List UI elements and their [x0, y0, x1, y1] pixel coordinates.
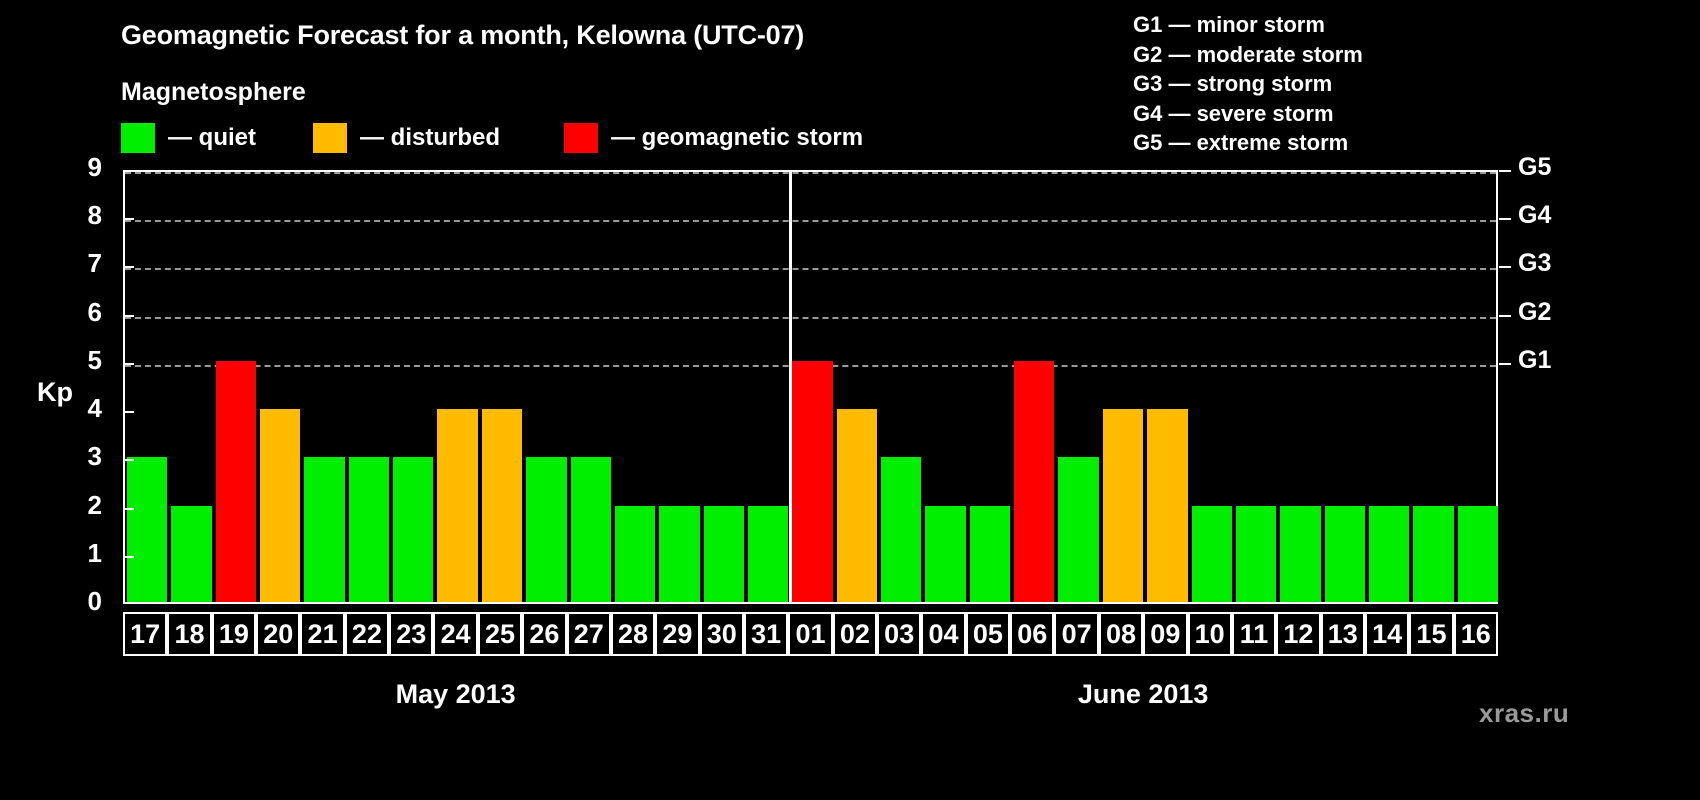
date-label-12[interactable]: 12	[1276, 612, 1320, 656]
y-tick-label-5: 5	[58, 345, 102, 376]
y-tick-mark-7	[123, 266, 134, 268]
legend-item-disturbed: — disturbed	[313, 122, 500, 154]
y-tick-mark-6	[123, 315, 134, 317]
date-label-11[interactable]: 11	[1232, 612, 1276, 656]
legend-item-quiet: — quiet	[121, 122, 256, 154]
bar-21	[304, 457, 344, 602]
y-tick-mark-4	[123, 411, 134, 413]
bar-26	[526, 457, 566, 602]
bar-08	[1103, 409, 1143, 602]
y-tick-mark-1	[123, 556, 134, 558]
bar-17	[127, 457, 167, 602]
bar-14	[1369, 506, 1409, 602]
date-label-13[interactable]: 13	[1321, 612, 1365, 656]
date-label-21[interactable]: 21	[300, 612, 344, 656]
bar-12	[1280, 506, 1320, 602]
date-label-23[interactable]: 23	[389, 612, 433, 656]
y-tick-label-3: 3	[58, 441, 102, 472]
date-label-29[interactable]: 29	[655, 612, 699, 656]
date-label-17[interactable]: 17	[123, 612, 167, 656]
month-label-june: June 2013	[788, 679, 1498, 710]
bar-25	[482, 409, 522, 602]
bar-20	[260, 409, 300, 602]
g-tick-mark-G5	[1499, 170, 1511, 172]
gscale-legend: G1 — minor stormG2 — moderate stormG3 — …	[1133, 10, 1363, 158]
y-tick-label-6: 6	[58, 297, 102, 328]
geomagnetic-forecast-chart: Geomagnetic Forecast for a month, Kelown…	[0, 0, 1700, 800]
bar-28	[615, 506, 655, 602]
bar-16	[1458, 506, 1498, 602]
g-tick-mark-G2	[1499, 315, 1511, 317]
date-label-14[interactable]: 14	[1365, 612, 1409, 656]
date-label-03[interactable]: 03	[877, 612, 921, 656]
legend-swatch-quiet-icon	[121, 123, 155, 153]
date-label-09[interactable]: 09	[1143, 612, 1187, 656]
y-tick-label-9: 9	[58, 152, 102, 183]
bar-05	[970, 506, 1010, 602]
g-tick-label-G1: G1	[1518, 346, 1551, 375]
bar-27	[571, 457, 611, 602]
bar-15	[1413, 506, 1453, 602]
bar-31	[748, 506, 788, 602]
g-tick-mark-G1	[1499, 363, 1511, 365]
g-tick-mark-G4	[1499, 218, 1511, 220]
y-tick-mark-8	[123, 218, 134, 220]
legend-label-quiet: — quiet	[168, 124, 256, 152]
g-tick-label-G5: G5	[1518, 153, 1551, 182]
y-tick-label-2: 2	[58, 490, 102, 521]
bar-13	[1325, 506, 1365, 602]
plot-area	[123, 170, 1498, 604]
date-label-10[interactable]: 10	[1188, 612, 1232, 656]
g-tick-label-G3: G3	[1518, 249, 1551, 278]
y-tick-mark-5	[123, 363, 134, 365]
legend-swatch-storm-icon	[564, 123, 598, 153]
y-tick-label-0: 0	[58, 586, 102, 617]
bar-11	[1236, 506, 1276, 602]
bar-series	[125, 172, 1496, 602]
g-tick-label-G4: G4	[1518, 201, 1551, 230]
y-tick-label-8: 8	[58, 200, 102, 231]
y-tick-mark-2	[123, 508, 134, 510]
bar-30	[704, 506, 744, 602]
gscale-legend-line-4: G4 — severe storm	[1133, 99, 1363, 129]
y-tick-label-7: 7	[58, 248, 102, 279]
date-label-30[interactable]: 30	[700, 612, 744, 656]
gscale-legend-line-5: G5 — extreme storm	[1133, 128, 1363, 158]
date-label-19[interactable]: 19	[212, 612, 256, 656]
date-label-06[interactable]: 06	[1010, 612, 1054, 656]
bar-18	[171, 506, 211, 602]
bar-06	[1014, 361, 1054, 602]
y-tick-label-1: 1	[58, 538, 102, 569]
bar-07	[1058, 457, 1098, 602]
legend-item-storm: — geomagnetic storm	[564, 122, 863, 154]
date-label-02[interactable]: 02	[833, 612, 877, 656]
date-label-22[interactable]: 22	[345, 612, 389, 656]
page-title: Geomagnetic Forecast for a month, Kelown…	[121, 20, 804, 51]
bar-23	[393, 457, 433, 602]
date-label-15[interactable]: 15	[1409, 612, 1453, 656]
y-tick-mark-3	[123, 459, 134, 461]
bar-10	[1192, 506, 1232, 602]
date-label-31[interactable]: 31	[744, 612, 788, 656]
bar-19	[216, 361, 256, 602]
bar-24	[437, 409, 477, 602]
date-label-27[interactable]: 27	[567, 612, 611, 656]
legend-swatch-disturbed-icon	[313, 123, 347, 153]
date-label-07[interactable]: 07	[1054, 612, 1098, 656]
date-label-24[interactable]: 24	[433, 612, 477, 656]
y-tick-mark-9	[123, 170, 134, 172]
date-label-20[interactable]: 20	[256, 612, 300, 656]
date-label-05[interactable]: 05	[966, 612, 1010, 656]
magnetosphere-legend-heading: Magnetosphere	[121, 78, 306, 107]
bar-01	[792, 361, 832, 602]
watermark: xras.ru	[1479, 698, 1569, 729]
y-axis-label: Kp	[37, 377, 73, 408]
date-label-26[interactable]: 26	[522, 612, 566, 656]
legend-label-storm: — geomagnetic storm	[611, 124, 863, 152]
gscale-legend-line-2: G2 — moderate storm	[1133, 40, 1363, 70]
legend-label-disturbed: — disturbed	[360, 124, 500, 152]
bar-29	[659, 506, 699, 602]
month-label-may: May 2013	[123, 679, 788, 710]
bar-04	[925, 506, 965, 602]
date-label-28[interactable]: 28	[611, 612, 655, 656]
bar-09	[1147, 409, 1187, 602]
bar-03	[881, 457, 921, 602]
bar-22	[349, 457, 389, 602]
gscale-legend-line-3: G3 — strong storm	[1133, 69, 1363, 99]
date-label-08[interactable]: 08	[1099, 612, 1143, 656]
date-label-01[interactable]: 01	[788, 612, 832, 656]
date-label-16[interactable]: 16	[1454, 612, 1498, 656]
g-tick-mark-G3	[1499, 266, 1511, 268]
date-label-25[interactable]: 25	[478, 612, 522, 656]
date-label-18[interactable]: 18	[167, 612, 211, 656]
g-tick-label-G2: G2	[1518, 298, 1551, 327]
date-label-04[interactable]: 04	[921, 612, 965, 656]
gscale-legend-line-1: G1 — minor storm	[1133, 10, 1363, 40]
bar-02	[837, 409, 877, 602]
